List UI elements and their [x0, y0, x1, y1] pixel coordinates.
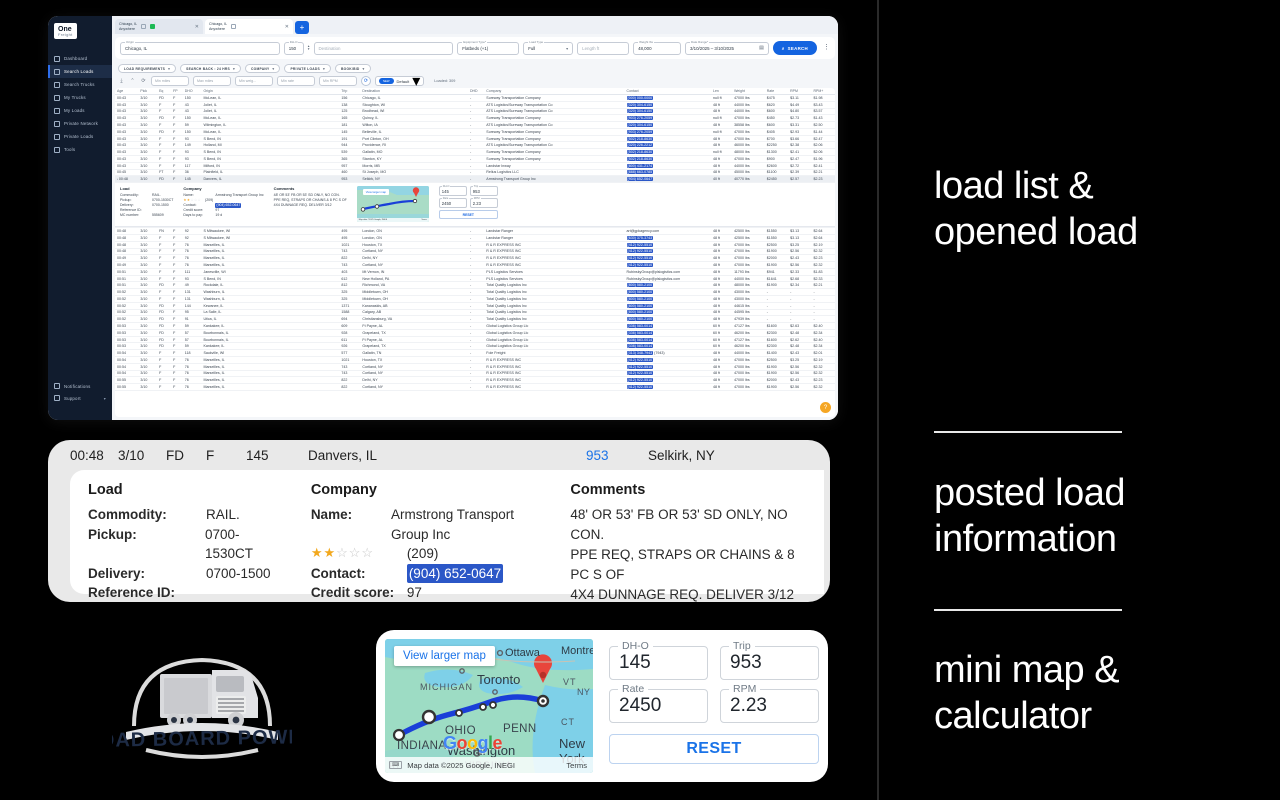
table-row[interactable]: 00:483/10FF76Marseilles, IL743Cortland, … [115, 248, 835, 255]
cell-eq: F [157, 377, 171, 384]
inline-calc-rpm[interactable]: RPM 2.23 [470, 198, 498, 208]
tab-search-2[interactable]: Chicago, IL Anywhere ✕ [205, 19, 293, 34]
view-larger-map-button[interactable]: View larger map [394, 646, 495, 666]
max-miles-input[interactable]: Max miles [193, 76, 231, 86]
inline-key: Days to pay: [183, 213, 211, 218]
contact-phone[interactable]: (800) 580-2100 [627, 304, 654, 308]
dho-input[interactable]: DH-O 150 [284, 42, 304, 55]
new-tab-button[interactable]: + [295, 21, 309, 34]
chip-load-requirements[interactable]: LOAD REQUIREMENTS ▾ [118, 64, 176, 73]
cell-dho: 145 [183, 176, 202, 183]
cell-trip[interactable]: 822 [339, 384, 360, 391]
cell-trip[interactable]: 365 [339, 156, 360, 163]
close-icon[interactable]: ✕ [195, 24, 199, 30]
grid-icon[interactable] [141, 24, 146, 29]
cell-contact[interactable]: (903) 276-2059 [625, 128, 711, 135]
contact-phone[interactable]: (502) 218-8630 [627, 157, 654, 161]
cell-company[interactable]: Total Quality Logistics Inc [484, 316, 624, 323]
cell-contact[interactable]: (412) 922-5510 [625, 377, 711, 384]
tab-bar: Chicago, IL Anywhere ✕ Chicago, IL Anywh… [112, 16, 838, 34]
table-row[interactable]: 00:433/10FF117Milford, IN957Morris, MB-L… [115, 162, 835, 169]
contact-phone[interactable]: (800) 580-2100 [627, 310, 654, 314]
cell-company[interactable]: Global Logistics Group Llc [484, 336, 624, 343]
cell-trip[interactable]: 403 [339, 268, 360, 275]
cell-contact[interactable]: (800) 580-2100 [625, 302, 711, 309]
inline-reset-button[interactable]: RESET [439, 210, 498, 219]
cell-contact[interactable]: (502) 218-8630 [625, 149, 711, 156]
cell-dho: 93 [183, 156, 202, 163]
table-row[interactable]: 00:543/10FF76Marseilles, IL1021Houston, … [115, 357, 835, 364]
cell-pick: 3/10 [138, 108, 157, 115]
cell-contact[interactable]: (313) 348-7943 (7943) [625, 350, 711, 357]
cell-company[interactable]: Landstar Ranger [484, 234, 624, 241]
table-row[interactable]: 00:433/10FF43Joliet, IL138Stoughton, WI-… [115, 101, 835, 108]
min-weight-input[interactable]: Min weig... [235, 76, 273, 86]
cell-trip[interactable]: 495 [339, 234, 360, 241]
inline-calc-dho[interactable]: DH-O 145 [439, 186, 467, 196]
reset-filters-icon[interactable]: ⟳ [361, 76, 371, 86]
contact-phone[interactable]: (412) 922-5510 [627, 256, 654, 260]
cell-fp: F [171, 176, 183, 183]
cell-company[interactable]: Sureway Transportation Company [484, 95, 624, 102]
table-row[interactable]: 00:433/10FF149Holland, MI944Providence, … [115, 142, 835, 149]
cell-trip[interactable]: 609 [339, 323, 360, 330]
cell-trip[interactable]: 460 [339, 169, 360, 176]
table-row[interactable]: 00:433/10FDF150McLean, IL165Quincy, IL-S… [115, 115, 835, 122]
table-row[interactable]: 00:433/10FDF150McLean, IL145Belleville, … [115, 128, 835, 135]
cell-company[interactable]: Sureway Transportation Company [484, 115, 624, 122]
cell-rate: $2500 [765, 357, 788, 364]
cell-pick: 3/10 [138, 101, 157, 108]
sidebar-item-search-trucks[interactable]: Search Trucks [48, 78, 112, 91]
inline-calc-rate[interactable]: Rate 2450 [439, 198, 467, 208]
cell-trip[interactable]: 156 [339, 95, 360, 102]
cell-contact[interactable]: (320) 226-2212 [625, 142, 711, 149]
contact-phone[interactable]: (412) 922-5510 [627, 378, 654, 382]
date-range-input[interactable]: Date Range* 3/10/2025 – 3/10/2025 ▤ [685, 42, 769, 55]
cell-fp: F [171, 289, 183, 296]
cell-contact[interactable]: RubinskyGroup@plslogistics.com [625, 268, 711, 275]
table-row[interactable]: 00:513/10FF93S Bend, IN612New Holland, P… [115, 275, 835, 282]
cell-fp: F [171, 262, 183, 269]
table-row[interactable]: 00:543/10FF76Marseilles, IL743Cortland, … [115, 370, 835, 377]
cell-trip[interactable]: 928 [339, 329, 360, 336]
cell-company[interactable]: PLS Logistics Services [484, 268, 624, 275]
sidebar-item-search-loads[interactable]: Search Loads [48, 65, 112, 78]
contact-phone[interactable]: (800) 580-2100 [627, 317, 654, 321]
detail-trip[interactable]: 953 [586, 448, 648, 463]
caption-line: posted load [934, 470, 1264, 516]
cell-trip[interactable]: 138 [339, 101, 360, 108]
keyboard-shortcuts-icon[interactable]: ⌨ [389, 761, 402, 769]
dho-stepper[interactable]: ▴▾ [308, 45, 310, 51]
cell-trip[interactable]: 957 [339, 162, 360, 169]
table-row[interactable]: 00:433/10FF93S Bend, IN539Gallatin, MO-S… [115, 149, 835, 156]
cell-company[interactable]: R & R EXPRESS INC [484, 377, 624, 384]
cell-company[interactable]: Sureway Transportation Company [484, 149, 624, 156]
cell-company[interactable]: ATS Logistics/Sureway Transportation Co [484, 101, 624, 108]
inline-view-larger-map[interactable]: View larger map [363, 189, 389, 195]
contact-phone[interactable]: (320) 304-6150 [627, 123, 654, 127]
contact-phone[interactable]: (800) 580-2100 [627, 283, 654, 287]
cell-weight: 47000 lbs [732, 377, 765, 384]
cell-weight: 43000 lbs [732, 295, 765, 302]
calc-rpm-field[interactable]: RPM 2.23 [720, 689, 819, 723]
cell-company[interactable]: Sureway Transportation Company [484, 156, 624, 163]
contact-phone[interactable]: (800) 431-2174 [627, 164, 654, 168]
cell-contact[interactable]: (412) 922-5510 [625, 262, 711, 269]
cell-trip[interactable]: 145 [339, 128, 360, 135]
table-row[interactable]: 00:453/10FTF36Plainfield, IL460St Joseph… [115, 169, 835, 176]
cell-company[interactable]: Landstar Inway [484, 162, 624, 169]
contact-phone[interactable]: (320) 304-6150 [627, 103, 654, 107]
cell-company[interactable]: R & R EXPRESS INC [484, 241, 624, 248]
contact-phone[interactable]: (412) 922-5510 [627, 365, 654, 369]
cell-fp: F [171, 343, 183, 350]
inline-calc-trip[interactable]: Trip 953 [470, 186, 498, 196]
cell-dhd: - [468, 95, 484, 102]
table-row[interactable]: 00:523/10FF131Washburn, IL325Middletown,… [115, 289, 835, 296]
cell-company[interactable]: Global Logistics Group Llc [484, 323, 624, 330]
cell-contact[interactable]: (800) 580-2100 [625, 316, 711, 323]
cell-contact[interactable]: (000) 000-0000 [625, 95, 711, 102]
table-row[interactable]: 00:543/10FF76Marseilles, IL743Cortland, … [115, 363, 835, 370]
cell-company[interactable]: R & R EXPRESS INC [484, 262, 624, 269]
cell-company[interactable]: R & R EXPRESS INC [484, 357, 624, 364]
cell-trip[interactable]: 944 [339, 142, 360, 149]
cell-contact[interactable]: (412) 922-5510 [625, 255, 711, 262]
cell-destination: Grapeland, TX [360, 329, 468, 336]
chip-private-loads[interactable]: PRIVATE LOADS ▾ [284, 64, 331, 73]
cell-eq: FD [157, 176, 171, 183]
table-row[interactable]: • 00:483/10FDF145Danvers, IL953Selkirk, … [115, 176, 835, 183]
cell-company[interactable]: ATS Logistics/Sureway Transportation Co [484, 108, 624, 115]
sidebar-item-my-trucks[interactable]: My Trucks [48, 91, 112, 104]
contact-phone[interactable]: (336) 583-0014 [627, 338, 654, 342]
table-row[interactable]: 00:513/10FF111Janesville, WI403Mt Vernon… [115, 268, 835, 275]
length-input[interactable]: Length ft [577, 42, 629, 55]
min-rate-input[interactable]: Min rate [277, 76, 315, 86]
cell-company[interactable]: Total Quality Logistics Inc [484, 302, 624, 309]
cell-company[interactable]: R & R EXPRESS INC [484, 370, 624, 377]
cell-trip[interactable]: 926 [339, 343, 360, 350]
cell-company[interactable]: Sureway Transportation Company [484, 128, 624, 135]
detail-review-count: (209) [407, 544, 439, 564]
contact-phone[interactable]: (412) 922-5510 [627, 358, 654, 362]
cell-trip[interactable]: 577 [339, 350, 360, 357]
cell-contact[interactable]: (800) 580-2100 [625, 282, 711, 289]
contact-phone[interactable]: (800) 580-2100 [627, 290, 654, 294]
cell-trip[interactable]: 822 [339, 377, 360, 384]
cell-contact[interactable]: (336) 583-0014 [625, 323, 711, 330]
cell-age: 00:49 [115, 262, 138, 269]
calc-trip-field[interactable]: Trip 953 [720, 646, 819, 680]
table-row[interactable]: 00:533/10FDF57Bourbonnais, IL928Grapelan… [115, 329, 835, 336]
table-row[interactable]: 00:553/10FF76Marseilles, IL822Delhi, NY-… [115, 377, 835, 384]
sidebar-item-notifications[interactable]: Notifications [48, 380, 112, 392]
cell-company[interactable]: PLS Logistics Services [484, 275, 624, 282]
cell-contact[interactable]: (412) 922-5510 [625, 357, 711, 364]
cell-weight: 42500 lbs [732, 228, 765, 235]
cell-company[interactable]: Total Quality Logistics Inc [484, 295, 624, 302]
grid-icon[interactable] [231, 24, 236, 29]
reset-button[interactable]: RESET [609, 734, 819, 764]
table-row[interactable]: 00:553/10FF76Marseilles, IL822Cortland, … [115, 384, 835, 391]
cell-contact[interactable]: (630) 375-3743 [625, 234, 711, 241]
contact-phone[interactable]: (412) 922-5510 [627, 243, 654, 247]
cell-company[interactable]: Armstrong Transport Group Inc [484, 176, 624, 183]
cell-contact[interactable]: (320) 304-6150 [625, 122, 711, 129]
table-row[interactable]: 00:433/10FDF150McLean, IL156Chicago, IL-… [115, 95, 835, 102]
cell-trip[interactable]: 953 [339, 176, 360, 183]
sidebar-item-dashboard[interactable]: Dashboard [48, 52, 112, 65]
cell-rpm: $2.63 [788, 323, 811, 330]
cell-trip[interactable]: 325 [339, 289, 360, 296]
tab-search-1[interactable]: Chicago, IL Anywhere ✕ [115, 19, 203, 34]
cell-company[interactable]: R & R EXPRESS INC [484, 384, 624, 391]
cell-company[interactable]: Total Quality Logistics Inc [484, 289, 624, 296]
table-row[interactable]: 00:483/10FF76Marseilles, IL1021Houston, … [115, 241, 835, 248]
preset-select[interactable]: NEW Default ▾ [375, 76, 424, 86]
cell-trip[interactable]: 125 [339, 108, 360, 115]
contact-phone[interactable]: (502) 218-8630 [627, 137, 654, 141]
load-results-table[interactable]: Age Pick Eq FP DHO Origin Trip Destinati… [115, 88, 835, 417]
caption-line: load list & [934, 163, 1264, 209]
cell-trip[interactable]: 191 [339, 135, 360, 142]
cell-company[interactable]: Global Logistics Group Llc [484, 329, 624, 336]
cell-trip[interactable]: 611 [339, 336, 360, 343]
cell-company[interactable]: Relius Logistics LLC [484, 169, 624, 176]
cell-contact[interactable]: (336) 583-0014 [625, 329, 711, 336]
cell-company[interactable]: Total Quality Logistics Inc [484, 309, 624, 316]
cell-age: 00:51 [115, 275, 138, 282]
detail-destination: Selkirk, NY [648, 448, 715, 463]
cell-company[interactable]: ATS Logistics/Sureway Transportation Co [484, 122, 624, 129]
table-row[interactable]: 00:433/10FF93S Bend, IN365Stanton, KY-Su… [115, 156, 835, 163]
cell-trip[interactable]: 822 [339, 255, 360, 262]
cell-trip[interactable]: 165 [339, 115, 360, 122]
cell-contact[interactable]: (320) 304-6150 [625, 108, 711, 115]
download-icon[interactable]: ⤓ [118, 78, 125, 85]
min-rpm-input[interactable]: Min RPM [319, 76, 357, 86]
cell-fp: F [171, 128, 183, 135]
cell-rpmx: $1.83 [812, 268, 835, 275]
table-row[interactable]: 00:433/10FF59Wilmington, IL181Wilton, IA… [115, 122, 835, 129]
contact-phone[interactable]: (336) 583-0014 [627, 331, 654, 335]
route-map[interactable]: MICHIGAN OHIO INDIANA PENN VIRGINIA VT C… [385, 639, 593, 773]
cell-company[interactable]: Landstar Ranger [484, 228, 624, 235]
sidebar-item-private-loads[interactable]: Private Loads [48, 130, 112, 143]
cell-company[interactable]: ATS Logistics/Sureway Transportation Co [484, 142, 624, 149]
cell-trip[interactable]: 1021 [339, 357, 360, 364]
detail-load-column: Load Commodity:RAIL. Pickup:0700-1530CT … [88, 482, 287, 582]
tab-origin-label: Chicago, IL [119, 22, 137, 26]
contact-phone[interactable]: (800) 580-2100 [627, 297, 654, 301]
contact-phone[interactable]: (336) 583-0014 [627, 344, 654, 348]
contact-phone[interactable]: (903) 276-2059 [627, 116, 654, 120]
cell-dho: 36 [183, 169, 202, 176]
contact-phone[interactable]: (412) 922-5510 [627, 263, 654, 267]
cell-rate: $620 [765, 101, 788, 108]
table-row[interactable]: 00:493/10FF76Marseilles, IL743Cortland, … [115, 262, 835, 269]
contact-phone[interactable]: (000) 000-0000 [627, 96, 654, 100]
sidebar-item-support[interactable]: Support ▾ [48, 392, 112, 404]
cell-rpm: - [788, 289, 811, 296]
cell-trip[interactable]: 495 [339, 228, 360, 235]
inline-mini-map[interactable]: View larger map Map data ©2025 Google, I… [357, 186, 429, 222]
destination-input[interactable]: Destination [314, 42, 454, 55]
caption-mini-map: mini map & calculator [934, 647, 1264, 740]
chip-company[interactable]: COMPANY ▾ [245, 64, 280, 73]
cell-contact[interactable]: (904) 652-0647 [625, 176, 711, 183]
table-row[interactable]: 00:533/10FDF57Bourbonnais, IL611Ft Payne… [115, 336, 835, 343]
cell-company[interactable]: Sureway Transportation Company [484, 135, 624, 142]
table-row[interactable]: 00:433/10FF93S Bend, IN191Port Clinton, … [115, 135, 835, 142]
cell-contact[interactable]: (903) 276-2059 [625, 115, 711, 122]
table-row[interactable]: 00:523/10FF131Washburn, IL325Middletown,… [115, 295, 835, 302]
table-row[interactable]: 00:533/10FDF59Kankakee, IL926Grapeland, … [115, 343, 835, 350]
cell-contact[interactable]: (336) 583-0014 [625, 336, 711, 343]
origin-input[interactable]: Origin Chicago, IL [120, 42, 280, 55]
table-row[interactable]: 00:543/10FF118Saukville, WI577Gallatin, … [115, 350, 835, 357]
cell-contact[interactable]: (412) 922-5510 [625, 370, 711, 377]
cell-company[interactable]: Global Logistics Group Llc [484, 343, 624, 350]
sidebar-item-private-network[interactable]: Private Network [48, 117, 112, 130]
table-row[interactable]: 00:523/10FDF95La Salle, IL1588Calgary, A… [115, 309, 835, 316]
equipment-type-select[interactable]: Equipment Type* Flatbeds (+1) [457, 42, 519, 55]
table-row[interactable]: 00:493/10FF76Marseilles, IL822Delhi, NY-… [115, 255, 835, 262]
inline-value: 555609 [152, 213, 164, 218]
close-icon[interactable]: ✕ [285, 24, 289, 30]
inline-company-name: Armstrong Transport Group Inc [215, 193, 263, 198]
cell-contact[interactable]: (800) 580-2100 [625, 289, 711, 296]
table-row[interactable]: 00:533/10FDF59Kankakee, IL609Ft Payne, A… [115, 323, 835, 330]
cell-company[interactable]: Total Quality Logistics Inc [484, 282, 624, 289]
cell-contact[interactable]: (800) 580-2100 [625, 295, 711, 302]
weight-input[interactable]: Weight lbs 48,000 [633, 42, 681, 55]
table-row[interactable]: 00:513/10FDF49Rockdale, IL812Richmond, V… [115, 282, 835, 289]
collapse-icon[interactable]: ⌃ [129, 78, 136, 85]
cell-trip[interactable]: 743 [339, 248, 360, 255]
chip-book-bid[interactable]: BOOK/BID ▾ [335, 64, 371, 73]
cell-trip[interactable]: 539 [339, 149, 360, 156]
cell-origin: S Bend, IN [201, 135, 339, 142]
calc-rate-field[interactable]: Rate 2450 [609, 689, 708, 723]
chevron-down-icon: ▾ [363, 67, 365, 71]
cell-origin: Marseilles, IL [201, 384, 339, 391]
cell-trip[interactable]: 1371 [339, 302, 360, 309]
cell-dhd: - [468, 350, 484, 357]
cell-dhd: - [468, 268, 484, 275]
cell-contact[interactable]: (336) 583-0014 [625, 343, 711, 350]
cell-company[interactable]: R & R EXPRESS INC [484, 248, 624, 255]
cell-contact[interactable]: (800) 580-2100 [625, 309, 711, 316]
cell-contact[interactable]: (888) 663-0785 [625, 169, 711, 176]
cell-contact[interactable]: (800) 431-2174 [625, 162, 711, 169]
refresh-icon[interactable]: ⟳ [140, 78, 147, 85]
contact-phone[interactable]: (502) 218-8630 [627, 150, 654, 154]
sidebar-item-tools[interactable]: Tools [48, 143, 112, 156]
table-row[interactable]: 00:523/10FDF91Utica, IL694Christiansburg… [115, 316, 835, 323]
cell-rpmx: - [812, 309, 835, 316]
cell-contact[interactable]: RubinskyGroup@plslogistics.com [625, 275, 711, 282]
table-row[interactable]: 00:523/10FDF144Kewanee, IL1371Kananaskis… [115, 302, 835, 309]
detail-value: 0700-1530CT [205, 525, 287, 564]
cell-age: 00:55 [115, 384, 138, 391]
cell-contact[interactable]: (412) 922-5510 [625, 248, 711, 255]
cell-origin: McLean, IL [201, 128, 339, 135]
contact-phone[interactable]: (320) 226-2212 [627, 143, 654, 147]
table-row[interactable]: 00:483/10FF92S Milwaukee, WI495London, O… [115, 234, 835, 241]
help-icon[interactable]: ? [820, 402, 831, 413]
table-row[interactable]: 00:483/10FNF92S Milwaukee, WI495London, … [115, 228, 835, 235]
cell-trip[interactable]: 1021 [339, 241, 360, 248]
cell-contact[interactable]: (412) 922-5510 [625, 241, 711, 248]
calendar-icon[interactable]: ▤ [759, 45, 764, 51]
cell-trip[interactable]: 1588 [339, 309, 360, 316]
cell-weight: 47000 lbs [732, 95, 765, 102]
cell-contact[interactable]: (320) 304-6150 [625, 101, 711, 108]
load-type-select[interactable]: Load Type Full ▾ [523, 42, 573, 55]
cell-trip[interactable]: 743 [339, 363, 360, 370]
cell-contact[interactable]: art@gpkagency.com [625, 228, 711, 235]
cell-weight: 48000 lbs [732, 282, 765, 289]
cell-pick: 3/10 [138, 316, 157, 323]
contact-phone[interactable]: (888) 663-0785 [627, 170, 654, 174]
cell-trip[interactable]: 612 [339, 275, 360, 282]
cell-trip[interactable]: 743 [339, 370, 360, 377]
cell-company[interactable]: R & R EXPRESS INC [484, 255, 624, 262]
contact-phone[interactable]: (630) 375-3743 [627, 236, 654, 240]
cell-dhd: - [468, 162, 484, 169]
cell-contact[interactable]: (502) 218-8630 [625, 135, 711, 142]
cell-rpmx: - [812, 302, 835, 309]
cell-contact[interactable]: (412) 922-5510 [625, 363, 711, 370]
more-options-icon[interactable]: ⋮ [823, 46, 830, 50]
chip-search-back[interactable]: SEARCH BACK : 24 HRS ▾ [180, 64, 241, 73]
cell-weight: 44000 lbs [732, 275, 765, 282]
calc-dho-field[interactable]: DH-O 145 [609, 646, 708, 680]
cell-company[interactable]: R & R EXPRESS INC [484, 363, 624, 370]
sidebar-item-my-loads[interactable]: My Loads [48, 104, 112, 117]
cell-rate: $941 [765, 268, 788, 275]
cell-trip[interactable]: 325 [339, 295, 360, 302]
cell-trip[interactable]: 181 [339, 122, 360, 129]
detail-comment-line: 48' OR 53' FB OR 53' SD ONLY, NO CON. [570, 505, 806, 545]
contact-phone[interactable]: (412) 922-5510 [627, 249, 654, 253]
contact-phone[interactable]: (412) 922-5510 [627, 371, 654, 375]
cell-trip[interactable]: 812 [339, 282, 360, 289]
contact-phone[interactable]: (320) 304-6150 [627, 109, 654, 113]
cell-trip[interactable]: 694 [339, 316, 360, 323]
table-row[interactable]: 00:433/10FF43Joliet, IL125Brodhead, WI-A… [115, 108, 835, 115]
cell-age: 00:43 [115, 142, 138, 149]
status-icon[interactable] [150, 24, 155, 29]
map-terms-link[interactable]: Terms [566, 761, 587, 770]
cell-contact[interactable]: (502) 218-8630 [625, 156, 711, 163]
detail-contact-value[interactable]: (904) 652-0647 [407, 564, 503, 584]
contact-phone[interactable]: (904) 652-0647 [627, 177, 654, 181]
cell-contact[interactable]: (412) 922-5510 [625, 384, 711, 391]
min-miles-input[interactable]: Min miles [151, 76, 189, 86]
contact-phone[interactable]: (903) 276-2059 [627, 130, 654, 134]
contact-phone[interactable]: (412) 922-5510 [627, 385, 654, 389]
cell-company[interactable]: Fole Freight [484, 350, 624, 357]
search-button[interactable]: ⌕ SEARCH [773, 41, 817, 55]
contact-phone[interactable]: (313) 348-7943 [627, 351, 654, 355]
cell-trip[interactable]: 743 [339, 262, 360, 269]
contact-phone[interactable]: (336) 583-0014 [627, 324, 654, 328]
